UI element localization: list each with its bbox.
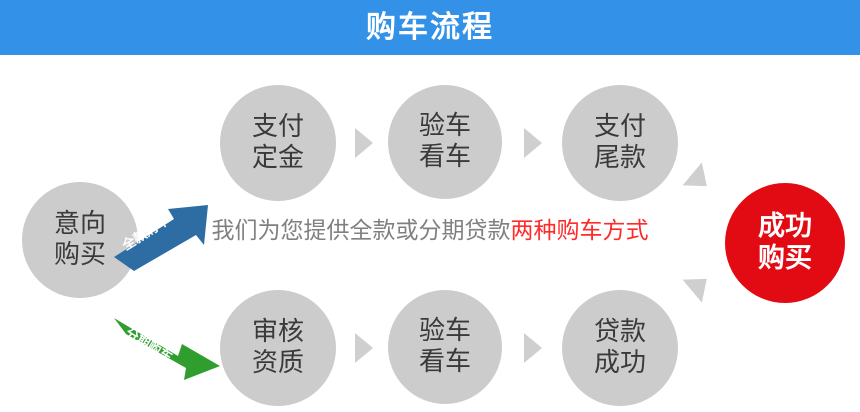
branch-arrow-installment: 分期购车	[112, 310, 230, 382]
node-inspect-car-top-line2: 看车	[419, 142, 471, 173]
purchase-flow-infographic: 购车流程 意向 购买 支付 定金 验车 看车 支付 尾款 审核 资质 验车 看车	[0, 0, 860, 412]
node-purchase-success: 成功 购买	[725, 183, 845, 303]
node-pay-balance-line1: 支付	[594, 112, 646, 143]
page-title: 购车流程	[366, 13, 494, 43]
node-review-qualification-line1: 审核	[252, 317, 304, 348]
node-inspect-car-top: 验车 看车	[388, 85, 502, 199]
node-loan-approved: 贷款 成功	[562, 290, 678, 406]
connector-triangle-merge-top	[683, 162, 717, 197]
node-review-qualification-line2: 资质	[252, 348, 304, 379]
connector-triangle-top-2	[524, 128, 542, 158]
node-purchase-success-line2: 购买	[758, 243, 812, 275]
node-inspect-car-top-line1: 验车	[419, 111, 471, 142]
caption-highlight: 两种购车方式	[511, 218, 649, 244]
node-pay-balance: 支付 尾款	[562, 85, 678, 201]
node-pay-balance-line2: 尾款	[594, 143, 646, 174]
node-loan-approved-line1: 贷款	[594, 317, 646, 348]
node-review-qualification: 审核 资质	[220, 290, 336, 406]
branch-arrow-installment-icon	[112, 310, 230, 382]
node-pay-deposit-line1: 支付	[252, 112, 304, 143]
connector-triangle-merge-bottom	[683, 267, 717, 302]
node-loan-approved-line2: 成功	[594, 348, 646, 379]
connector-triangle-bottom-2	[524, 333, 542, 363]
node-intent-to-buy-line2: 购买	[54, 240, 106, 271]
node-inspect-car-bottom-line2: 看车	[419, 347, 471, 378]
connector-triangle-bottom-1	[355, 333, 373, 363]
flow-diagram: 意向 购买 支付 定金 验车 看车 支付 尾款 审核 资质 验车 看车 贷款 成…	[0, 55, 860, 412]
node-inspect-car-bottom: 验车 看车	[388, 290, 502, 404]
caption-text: 我们为您提供全款或分期贷款两种购车方式	[0, 220, 860, 243]
header-bar: 购车流程	[0, 0, 860, 55]
node-pay-deposit: 支付 定金	[220, 85, 336, 201]
connector-triangle-top-1	[355, 128, 373, 158]
caption-normal: 我们为您提供全款或分期贷款	[212, 218, 511, 244]
node-inspect-car-bottom-line1: 验车	[419, 316, 471, 347]
node-pay-deposit-line2: 定金	[252, 143, 304, 174]
